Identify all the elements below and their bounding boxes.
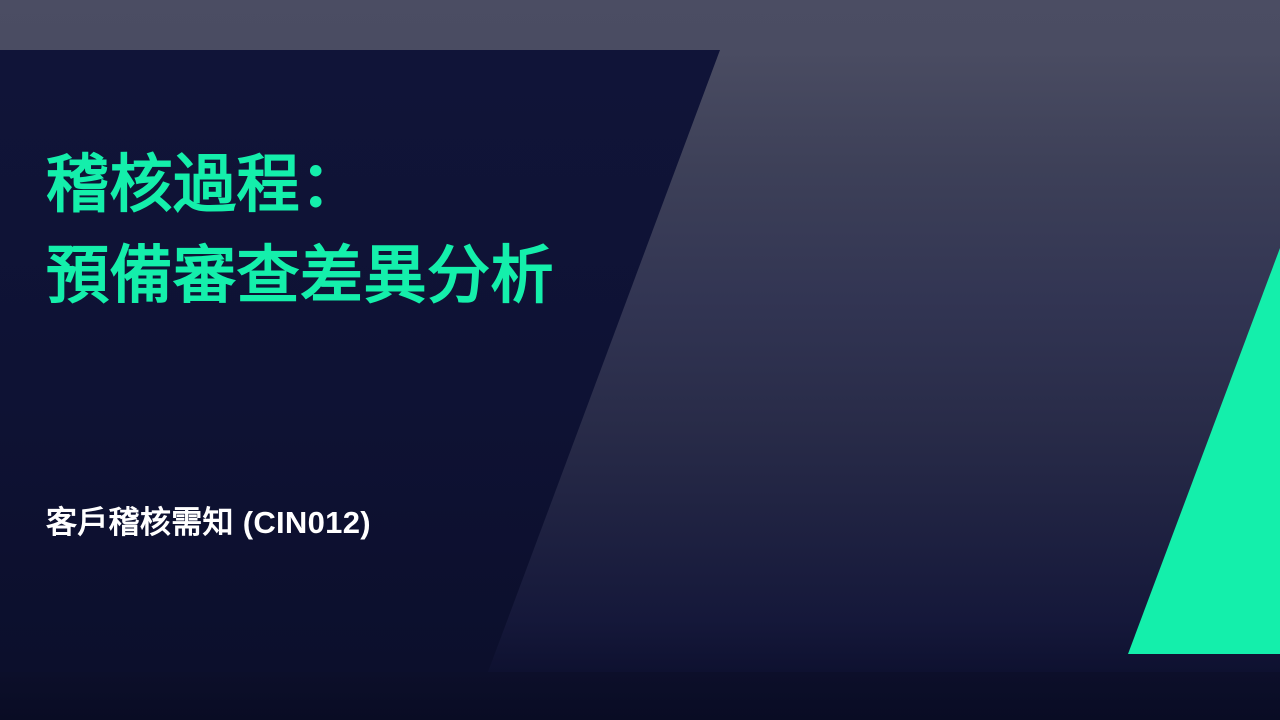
slide-subtitle: 客戶稽核需知 (CIN012)	[46, 502, 371, 544]
slide-title: 稽核過程： 預備審查差異分析	[46, 140, 686, 322]
text-layer: 稽核過程： 預備審查差異分析 客戶稽核需知 (CIN012)	[0, 0, 1280, 720]
slide-title-line-2: 預備審查差異分析	[46, 231, 686, 322]
slide-title-line-1: 稽核過程：	[46, 140, 686, 231]
title-slide: 稽核過程： 預備審查差異分析 客戶稽核需知 (CIN012)	[0, 0, 1280, 720]
